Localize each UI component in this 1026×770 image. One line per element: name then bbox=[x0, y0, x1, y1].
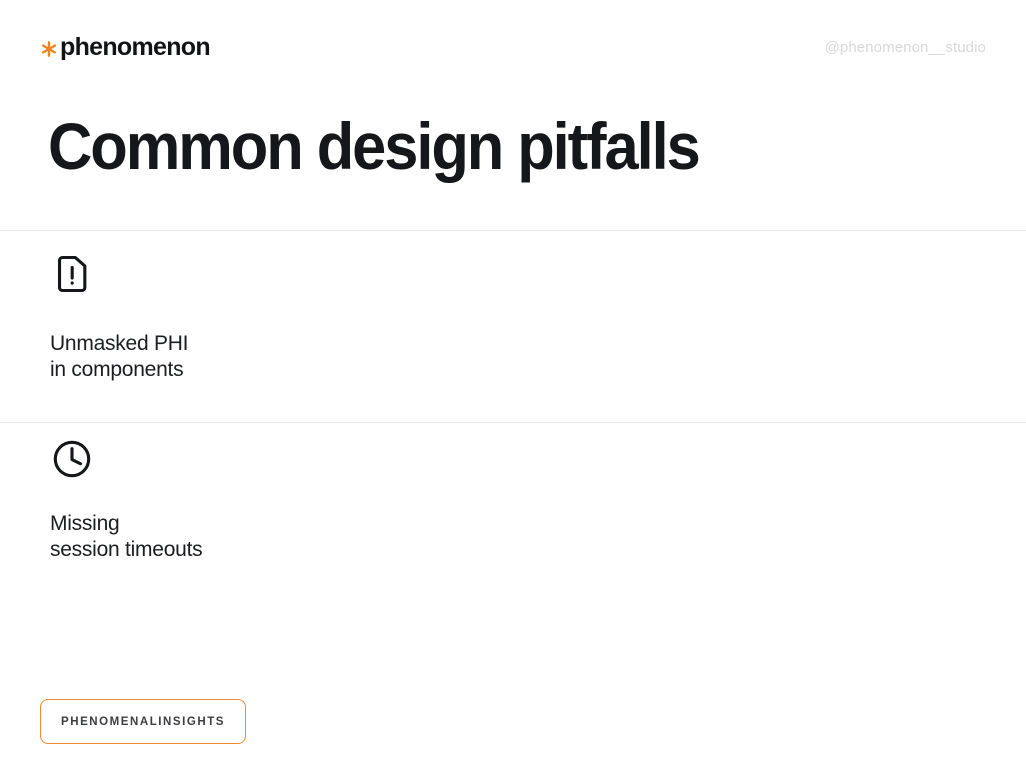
page-title: Common design pitfalls bbox=[48, 112, 699, 181]
brand-name: phenomenon bbox=[60, 35, 210, 60]
file-alert-icon bbox=[50, 252, 94, 296]
pitfall-label: Missing session timeouts bbox=[50, 511, 513, 564]
pitfall-label: Unmasked PHI in components bbox=[50, 331, 513, 384]
pitfall-card-confusing-navigation: Confusing navigation or data entry bbox=[513, 423, 1026, 589]
pitfalls-grid: Unmasked PHI in components Weak authenti… bbox=[0, 230, 1026, 589]
brand-logo[interactable]: phenomenon bbox=[40, 35, 210, 60]
slide-root: phenomenon @phenomenon__studio Common de… bbox=[0, 0, 1026, 770]
grid-row: Missing session timeouts Confusing navig… bbox=[0, 423, 1026, 589]
pitfall-card-weak-auth: Weak authentication flows bbox=[513, 231, 1026, 422]
pitfall-card-session-timeouts: Missing session timeouts bbox=[0, 423, 513, 589]
phenomenal-insights-tag[interactable]: PHENOMENALINSIGHTS bbox=[40, 699, 246, 744]
clock-icon bbox=[50, 437, 94, 481]
pitfall-card-unmasked-phi: Unmasked PHI in components bbox=[0, 231, 513, 422]
slide-header: phenomenon @phenomenon__studio bbox=[0, 27, 1026, 67]
social-handle: @phenomenon__studio bbox=[825, 40, 986, 55]
asterisk-icon bbox=[40, 40, 58, 58]
grid-row: Unmasked PHI in components Weak authenti… bbox=[0, 231, 1026, 423]
